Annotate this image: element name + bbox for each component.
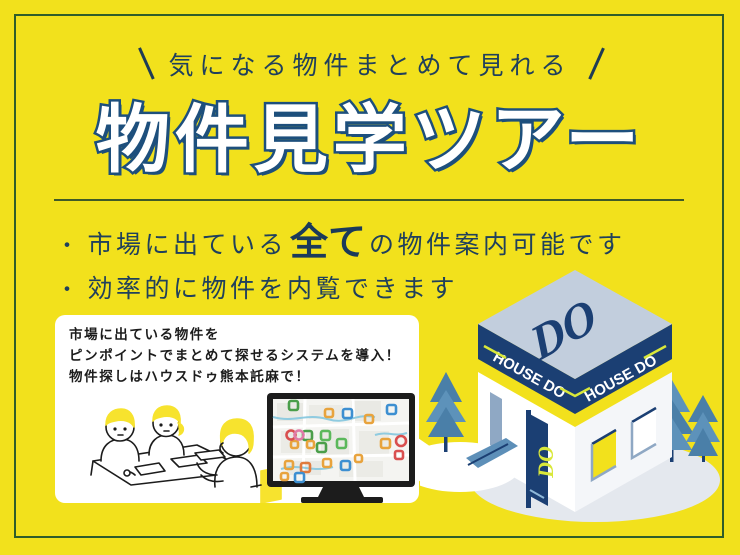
bullet-item: ・ 市場に出ている 全て の物件案内可能です bbox=[56, 219, 626, 268]
callout-artwork bbox=[55, 383, 419, 503]
slash-left-icon bbox=[122, 46, 154, 82]
slash-right-icon bbox=[586, 46, 618, 82]
bullet-text-after: の物件案内可能です bbox=[369, 224, 626, 266]
callout-line-2: ピンポイントでまとめて探せるシステムを導入！ bbox=[69, 346, 411, 367]
bullet-text-before: 市場に出ている bbox=[88, 224, 288, 266]
poster-canvas: 気になる物件まとめて見れる 物件見学ツアー ・ 市場に出ている 全て の物件案内… bbox=[0, 0, 740, 555]
banner-do-label: DO bbox=[533, 446, 558, 479]
divider bbox=[54, 199, 684, 201]
subtitle-row: 気になる物件まとめて見れる bbox=[0, 46, 740, 82]
bullet-emphasis: 全て bbox=[290, 221, 366, 263]
bullet-item: ・ 効率的に物件を内覧できます bbox=[56, 268, 626, 312]
map-monitor-illustration bbox=[267, 393, 415, 503]
callout-line-1: 市場に出ている物件を bbox=[69, 325, 411, 346]
subtitle-text: 気になる物件まとめて見れる bbox=[168, 46, 571, 82]
callout-tail bbox=[418, 438, 450, 482]
callout-art-svg bbox=[55, 383, 419, 503]
callout-box: 市場に出ている物件を ピンポイントでまとめて探せるシステムを導入！ 物件探しはハ… bbox=[55, 315, 419, 503]
tree-right-2-icon bbox=[686, 395, 720, 462]
bullet-text-before: 効率的に物件を内覧できます bbox=[88, 268, 459, 310]
page-title: 物件見学ツアー bbox=[0, 97, 740, 183]
map-canvas bbox=[273, 399, 409, 482]
meeting-illustration bbox=[91, 406, 281, 503]
bullet-dot: ・ bbox=[56, 270, 82, 312]
bullet-list: ・ 市場に出ている 全て の物件案内可能です ・ 効率的に物件を内覧できます bbox=[56, 219, 626, 312]
callout-text: 市場に出ている物件を ピンポイントでまとめて探せるシステムを導入！ 物件探しはハ… bbox=[69, 325, 411, 388]
bullet-dot: ・ bbox=[56, 226, 82, 268]
